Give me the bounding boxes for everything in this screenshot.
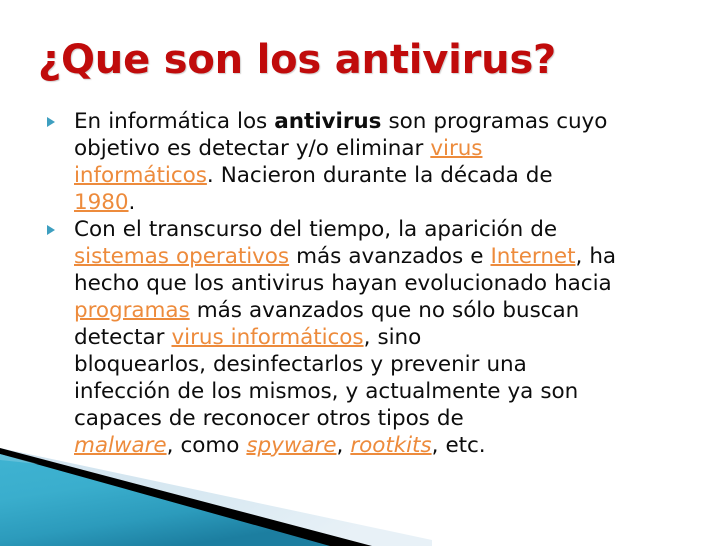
- teal-band: [0, 454, 330, 546]
- text-run: más avanzados que no sólo buscan: [190, 298, 580, 323]
- bullet-item: Con el transcurso del tiempo, la aparici…: [36, 216, 708, 459]
- text-run: antivirus: [274, 109, 381, 134]
- text-run: , etc.: [432, 433, 486, 458]
- bullet-item: En informática los antivirus son program…: [36, 108, 708, 216]
- text-run: son programas cuyo: [381, 109, 607, 134]
- text-line: Con el transcurso del tiempo, la aparici…: [74, 216, 708, 243]
- hyperlink[interactable]: virus: [430, 136, 482, 161]
- text-line: infección de los mismos, y actualmente y…: [74, 378, 708, 405]
- hyperlink[interactable]: Internet: [490, 244, 575, 269]
- slide-canvas: ¿Que son los antivirus? En informática l…: [0, 0, 728, 546]
- bullet-text: Con el transcurso del tiempo, la aparici…: [74, 216, 708, 459]
- text-line: 1980.: [74, 189, 708, 216]
- text-run: infección de los mismos, y actualmente y…: [74, 379, 578, 404]
- text-line: En informática los antivirus son program…: [74, 108, 708, 135]
- hyperlink[interactable]: programas: [74, 298, 190, 323]
- text-line: objetivo es detectar y/o eliminar virus: [74, 135, 708, 162]
- hyperlink[interactable]: spyware: [246, 433, 336, 458]
- text-run: En informática los: [74, 109, 274, 134]
- hyperlink[interactable]: virus informáticos: [171, 325, 363, 350]
- text-run: detectar: [74, 325, 171, 350]
- light-blue-wedge: [0, 448, 432, 546]
- hyperlink[interactable]: malware: [74, 433, 167, 458]
- text-line: hecho que los antivirus hayan evoluciona…: [74, 270, 708, 297]
- text-run: , como: [167, 433, 247, 458]
- text-run: , sino: [364, 325, 422, 350]
- bullet-triangle-icon: [47, 225, 55, 235]
- text-run: , ha: [575, 244, 616, 269]
- text-run: .: [129, 190, 136, 215]
- text-run: bloquearlos, desinfectarlos y prevenir u…: [74, 352, 527, 377]
- text-run: Con el transcurso del tiempo, la aparici…: [74, 217, 557, 242]
- text-line: detectar virus informáticos, sino: [74, 324, 708, 351]
- bullet-triangle-icon: [47, 117, 55, 127]
- text-line: malware, como spyware, rootkits, etc.: [74, 432, 708, 459]
- text-line: informáticos. Nacieron durante la década…: [74, 162, 708, 189]
- text-line: capaces de reconocer otros tipos de: [74, 405, 708, 432]
- text-line: sistemas operativos más avanzados e Inte…: [74, 243, 708, 270]
- hyperlink[interactable]: informáticos: [74, 163, 207, 188]
- text-run: capaces de reconocer otros tipos de: [74, 406, 464, 431]
- text-run: hecho que los antivirus hayan evoluciona…: [74, 271, 612, 296]
- hyperlink[interactable]: rootkits: [350, 433, 431, 458]
- text-run: más avanzados e: [289, 244, 490, 269]
- text-line: bloquearlos, desinfectarlos y prevenir u…: [74, 351, 708, 378]
- text-run: objetivo es detectar y/o eliminar: [74, 136, 430, 161]
- hyperlink[interactable]: sistemas operativos: [74, 244, 289, 269]
- hyperlink[interactable]: 1980: [74, 190, 129, 215]
- text-line: programas más avanzados que no sólo busc…: [74, 297, 708, 324]
- black-stripe: [0, 448, 372, 546]
- text-run: ,: [336, 433, 350, 458]
- page-title: ¿Que son los antivirus?: [38, 36, 688, 84]
- bullet-text: En informática los antivirus son program…: [74, 108, 708, 216]
- teal-highlight-edge: [0, 454, 38, 464]
- slide-body: En informática los antivirus son program…: [36, 108, 708, 459]
- text-run: . Nacieron durante la década de: [207, 163, 553, 188]
